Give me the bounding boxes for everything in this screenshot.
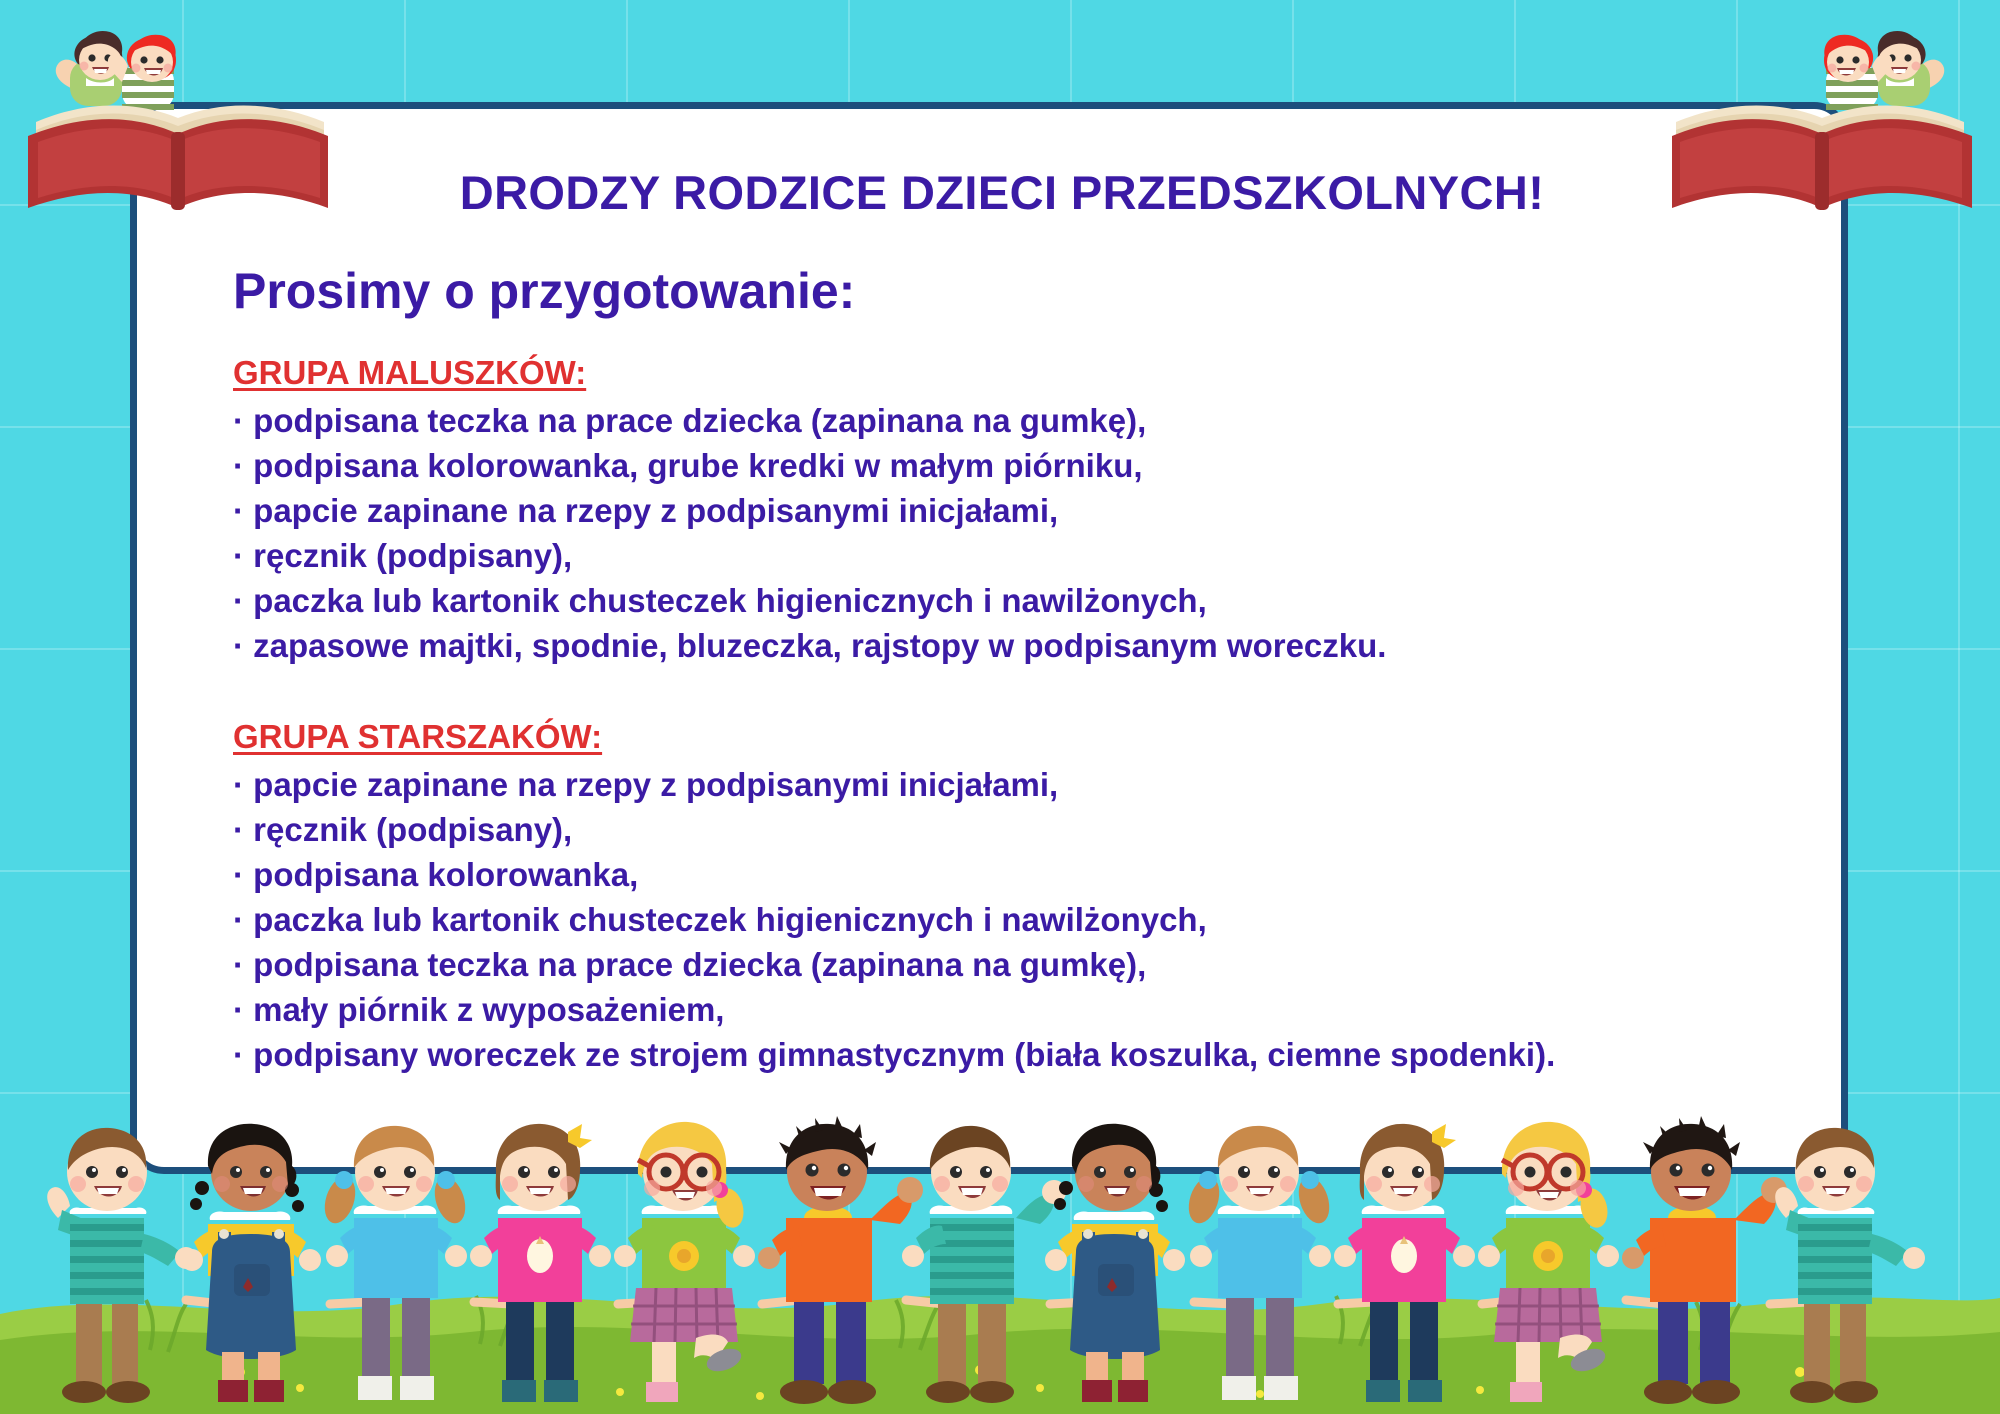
- requirement-list: · papcie zapinane na rzepy z podpisanymi…: [233, 762, 1781, 1077]
- group-header: GRUPA STARSZAKÓW:: [233, 718, 602, 756]
- book-with-children-right-icon: [1652, 0, 1982, 224]
- list-item: · podpisana teczka na prace dziecka (zap…: [233, 942, 1781, 987]
- list-item: · ręcznik (podpisany),: [233, 533, 1781, 578]
- group-header: GRUPA MALUSZKÓW:: [233, 354, 586, 392]
- list-item: · podpisana teczka na prace dziecka (zap…: [233, 398, 1781, 443]
- book-with-children-left-icon: [18, 0, 348, 224]
- list-item: · mały piórnik z wyposażeniem,: [233, 987, 1781, 1032]
- group-starszakow: GRUPA STARSZAKÓW: · papcie zapinane na r…: [233, 718, 1781, 1077]
- list-item: · papcie zapinane na rzepy z podpisanymi…: [233, 488, 1781, 533]
- poster-canvas: DRODZY RODZICE DZIECI PRZEDSZKOLNYCH! Pr…: [0, 0, 2000, 1414]
- page-title: DRODZY RODZICE DZIECI PRZEDSZKOLNYCH!: [193, 165, 1781, 220]
- list-item: · papcie zapinane na rzepy z podpisanymi…: [233, 762, 1781, 807]
- list-item: · podpisana kolorowanka,: [233, 852, 1781, 897]
- list-item: · paczka lub kartonik chusteczek higieni…: [233, 897, 1781, 942]
- list-item: · ręcznik (podpisany),: [233, 807, 1781, 852]
- announcement-card: DRODZY RODZICE DZIECI PRZEDSZKOLNYCH! Pr…: [130, 102, 1848, 1174]
- list-item: · paczka lub kartonik chusteczek higieni…: [233, 578, 1781, 623]
- list-item: · podpisany woreczek ze strojem gimnasty…: [233, 1032, 1781, 1077]
- subtitle: Prosimy o przygotowanie:: [233, 262, 1781, 320]
- group-maluszkow: GRUPA MALUSZKÓW: · podpisana teczka na p…: [233, 354, 1781, 668]
- list-item: · zapasowe majtki, spodnie, bluzeczka, r…: [233, 623, 1781, 668]
- list-item: · podpisana kolorowanka, grube kredki w …: [233, 443, 1781, 488]
- children-holding-hands-illustration: [0, 1114, 2000, 1414]
- requirement-list: · podpisana teczka na prace dziecka (zap…: [233, 398, 1781, 668]
